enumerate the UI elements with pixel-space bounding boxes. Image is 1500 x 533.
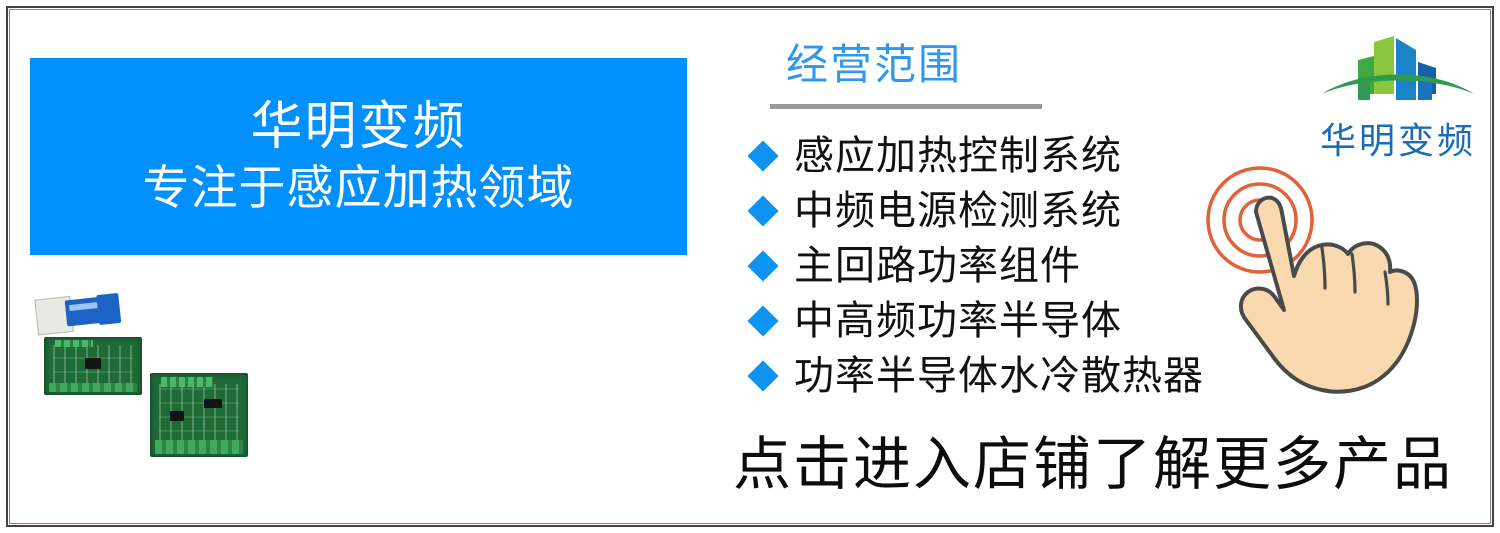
product-pcb-board [44,337,142,395]
scope-item-label: 中高频功率半导体 [794,301,1122,341]
list-item: 主回路功率组件 [752,238,1204,293]
list-item: 功率半导体水冷散热器 [752,348,1204,403]
diamond-bullet-icon [747,140,778,171]
diamond-bullet-icon [747,250,778,281]
diamond-bullet-icon [747,195,778,226]
cta-text[interactable]: 点击进入店铺了解更多产品 [733,436,1453,494]
scope-list: 感应加热控制系统 中频电源检测系统 主回路功率组件 中高频功率半导体 功率半导体… [752,128,1204,403]
product-control-module [34,290,125,335]
tap-hand-icon [1182,158,1450,410]
hero-title: 华明变频 [250,100,466,155]
shop-promo-banner[interactable]: 华明变频 专注于感应加热领域 [0,0,1500,533]
company-logo: 华明变频 [1318,32,1478,177]
scope-item-label: 功率半导体水冷散热器 [794,356,1204,396]
list-item: 感应加热控制系统 [752,128,1204,183]
product-pcb-board [150,373,248,457]
scope-item-label: 中频电源检测系统 [794,191,1122,231]
list-item: 中频电源检测系统 [752,183,1204,238]
product-photo-strip [26,290,716,475]
list-item: 中高频功率半导体 [752,293,1204,348]
building-logo-icon [1318,32,1478,120]
scope-item-label: 主回路功率组件 [794,246,1081,286]
logo-wordmark: 华明变频 [1318,120,1478,163]
scope-item-label: 感应加热控制系统 [794,136,1122,176]
scope-heading-rule [770,104,1042,109]
scope-heading: 经营范围 [786,44,962,86]
hero-brand-box: 华明变频 专注于感应加热领域 [30,58,687,255]
diamond-bullet-icon [747,360,778,391]
hero-subtitle: 专注于感应加热领域 [143,163,575,214]
diamond-bullet-icon [747,305,778,336]
